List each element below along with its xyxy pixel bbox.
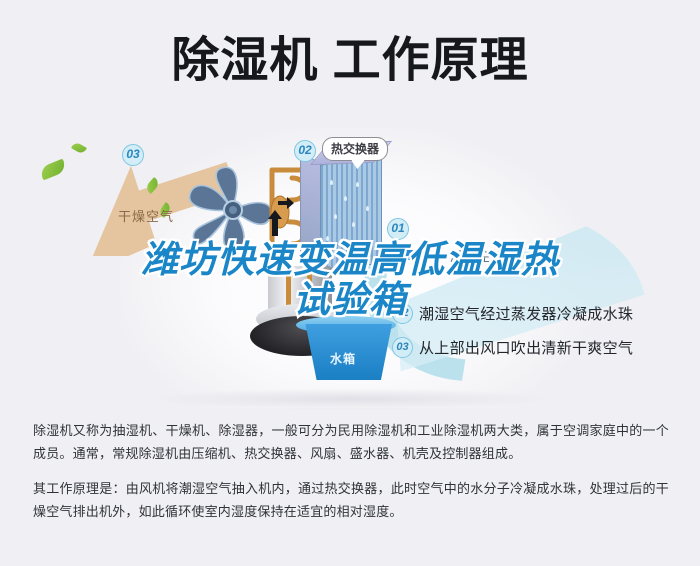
page-root: 除湿机 工作原理 <box>0 0 700 566</box>
machine-assembly: 水箱 <box>0 118 700 408</box>
step-label-02: 潮湿空气经过蒸发器冷凝成水珠 <box>419 303 633 324</box>
dry-air-label: 干燥空气 <box>118 206 174 225</box>
diagram-badge-02: 02 <box>294 140 316 162</box>
diagram-badge-01: 01 <box>387 218 409 240</box>
evaporator-side-panel <box>300 154 322 267</box>
water-droplet-icon <box>348 246 351 251</box>
step-badge-02: 02 <box>392 303 413 324</box>
humid-air-label: 潮湿空气 <box>450 246 506 265</box>
water-tank-label: 水箱 <box>330 350 356 367</box>
flow-arrow-up-icon <box>268 210 282 236</box>
water-droplet-icon <box>366 206 369 211</box>
list-item: 02 潮湿空气经过蒸发器冷凝成水珠 <box>392 296 692 330</box>
body-copy: 除湿机又称为抽湿机、干燥机、除湿器，一般可分为民用除湿机和工业除湿机两大类，属于… <box>33 419 669 523</box>
step-badge-03: 03 <box>392 337 413 358</box>
diagram-badge-03: 03 <box>122 144 144 166</box>
flow-arrow-right-icon <box>278 196 294 210</box>
step-list: 02 潮湿空气经过蒸发器冷凝成水珠 03 从上部出风口吹出清新干爽空气 <box>392 296 692 364</box>
step-label-03: 从上部出风口吹出清新干爽空气 <box>419 337 633 358</box>
water-droplet-icon <box>334 214 337 219</box>
illustration-shadow <box>150 388 550 410</box>
water-droplet-icon <box>352 222 355 227</box>
evaporator-fins <box>320 155 382 273</box>
paragraph-2: 其工作原理是：由风机将潮湿空气抽入机内，通过热交换器，此时空气中的水分子冷凝成水… <box>33 477 669 523</box>
page-title: 除湿机 工作原理 <box>0 32 700 90</box>
paragraph-1: 除湿机又称为抽湿机、干燥机、除湿器，一般可分为民用除湿机和工业除湿机两大类，属于… <box>33 419 669 465</box>
water-droplet-icon <box>356 182 359 187</box>
water-droplet-icon <box>330 180 333 185</box>
dehumidifier-diagram: 水箱 03 02 01 热交换器 干燥空气 潮湿空气 <box>0 118 700 408</box>
page-title-text: 除湿机 工作原理 <box>171 32 528 90</box>
water-droplet-icon <box>344 196 347 201</box>
water-droplet-icon <box>326 236 329 241</box>
list-item: 03 从上部出风口吹出清新干爽空气 <box>392 330 692 364</box>
heat-exchanger-callout: 热交换器 <box>322 137 388 161</box>
air-intake-arrow-icon <box>378 246 422 264</box>
